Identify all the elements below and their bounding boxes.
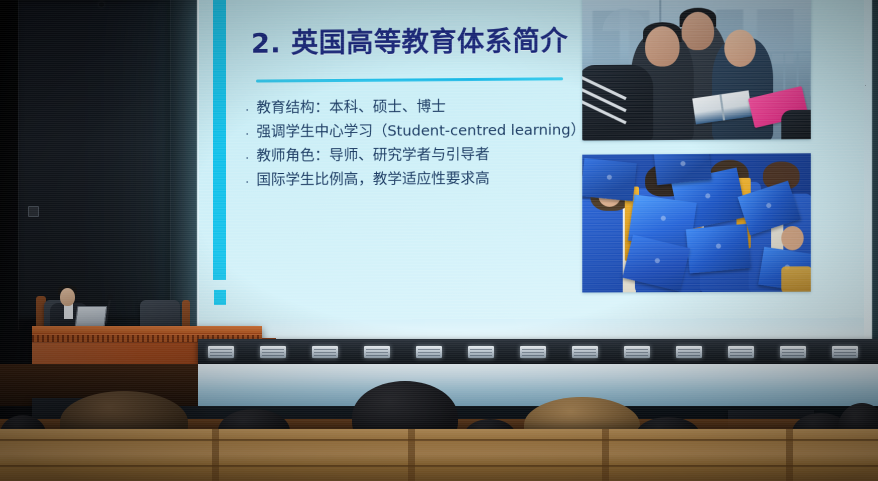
seat-divider <box>602 429 609 481</box>
photo-person-head <box>724 29 756 67</box>
photo-stole <box>781 266 811 292</box>
list-item: · 教师角色：导师、研究学者与引导者 <box>245 146 585 166</box>
seat-divider <box>786 429 793 481</box>
slide-accent-bar <box>213 0 226 280</box>
stage-light <box>572 346 598 358</box>
photo-grad-cap <box>582 158 637 201</box>
photo-bag <box>781 110 811 141</box>
slide-title-rule <box>256 77 563 82</box>
stage-light <box>520 346 546 358</box>
stage-light <box>312 346 338 358</box>
stage-light <box>676 346 702 358</box>
list-item: · 强调学生中心学习（Student-centred learning） <box>245 121 585 141</box>
stage-light <box>832 346 858 358</box>
stage-light <box>416 346 442 358</box>
stage-light <box>624 346 650 358</box>
slide-bullet-list: · 教育结构：本科、硕士、博士 · 强调学生中心学习（Student-centr… <box>245 97 585 195</box>
seat-edge-line <box>0 465 878 467</box>
foreground-seat-row <box>0 429 878 481</box>
slide-title: 2. 英国高等教育体系简介 <box>251 19 568 61</box>
wall-outlet <box>28 206 39 217</box>
stage-light <box>728 346 754 358</box>
students-studying-photo <box>582 0 811 141</box>
photo-backpack <box>582 65 653 141</box>
bullet-text: 国际学生比例高，教学适应性要求高 <box>256 170 489 189</box>
wall-panel-left <box>18 0 170 320</box>
stage-front-band <box>198 339 878 365</box>
stage-light <box>364 346 390 358</box>
ceiling-fixture-icon <box>99 2 104 7</box>
photo-person-head <box>645 26 679 67</box>
stage-light <box>780 346 806 358</box>
bullet-text: 强调学生中心学习（Student-centred learning） <box>256 121 585 141</box>
bullet-marker-icon: · <box>245 173 249 191</box>
list-item: · 教育结构：本科、硕士、博士 <box>245 97 585 117</box>
wall-seam <box>170 0 171 330</box>
bullet-text: 教师角色：导师、研究学者与引导者 <box>256 146 489 165</box>
bullet-marker-icon: · <box>245 101 249 119</box>
wall-seam <box>18 0 19 330</box>
bullet-marker-icon: · <box>245 149 249 167</box>
stage-light <box>468 346 494 358</box>
stage-floor <box>198 364 878 406</box>
photo-head <box>781 226 803 250</box>
lecture-hall-scene: 2. 英国高等教育体系简介 · 教育结构：本科、硕士、博士 · 强调学生中心学习… <box>0 0 878 481</box>
stage-light <box>208 346 234 358</box>
speaker-head <box>60 288 75 306</box>
list-item: · 国际学生比例高，教学适应性要求高 <box>245 170 585 190</box>
stage-light <box>260 346 286 358</box>
bullet-text: 教育结构：本科、硕士、博士 <box>256 98 445 117</box>
presentation-slide: 2. 英国高等教育体系简介 · 教育结构：本科、硕士、博士 · 强调学生中心学习… <box>199 0 864 320</box>
table-top-edge <box>32 326 262 333</box>
graduation-caps-photo <box>582 153 811 292</box>
photo-grad-cap <box>686 224 751 274</box>
bullet-marker-icon: · <box>245 125 249 143</box>
laptop <box>75 306 108 327</box>
seat-edge-line <box>0 439 878 441</box>
seat-divider <box>408 429 415 481</box>
slide-accent-bar-stub <box>214 290 226 305</box>
seat-divider <box>212 429 219 481</box>
